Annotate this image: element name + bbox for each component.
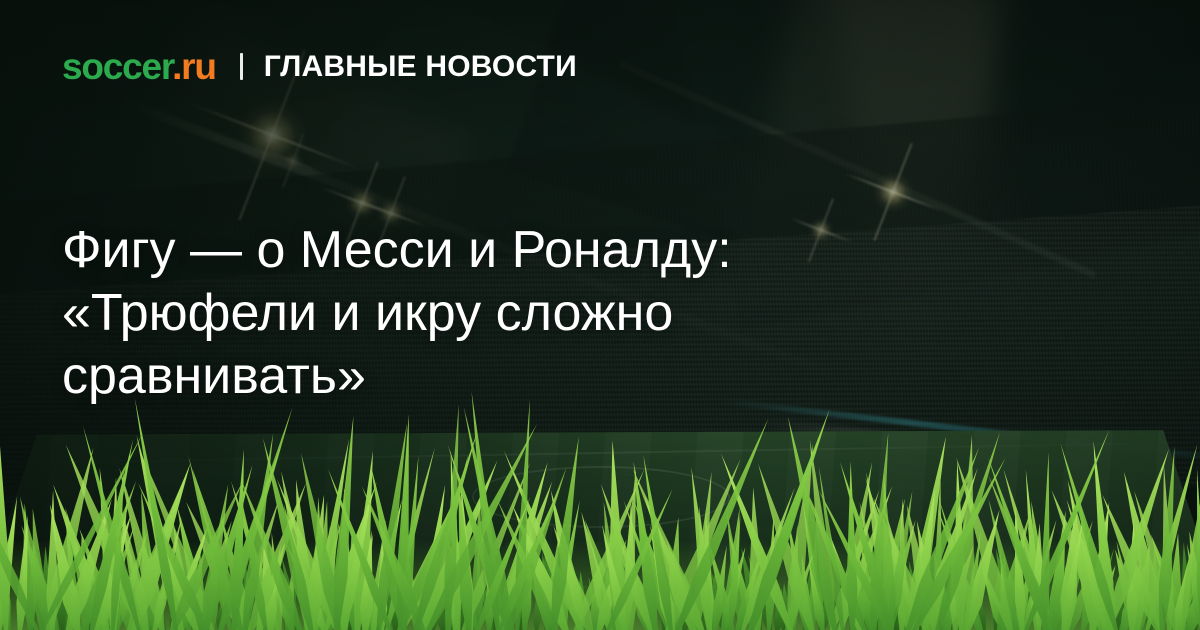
headline-line-3: сравнивать» (62, 345, 962, 408)
foreground-grass (0, 380, 1200, 630)
logo-text-ru: .ru (172, 46, 216, 87)
site-logo[interactable]: soccer.ru (62, 48, 216, 85)
logo-text-soccer: soccer (62, 46, 172, 87)
card-header: soccer.ru ГЛАВНЫЕ НОВОСТИ (62, 48, 577, 85)
header-separator (240, 53, 243, 80)
page-title: Фигу — о Месси и Роналду: «Трюфели и икр… (62, 219, 962, 408)
header-kicker: ГЛАВНЫЕ НОВОСТИ (264, 52, 577, 82)
news-share-card: soccer.ru ГЛАВНЫЕ НОВОСТИ Фигу — о Месси… (0, 0, 1200, 630)
headline-line-1: Фигу — о Месси и Роналду: (62, 219, 962, 282)
headline-line-2: «Трюфели и икру сложно (62, 282, 962, 345)
